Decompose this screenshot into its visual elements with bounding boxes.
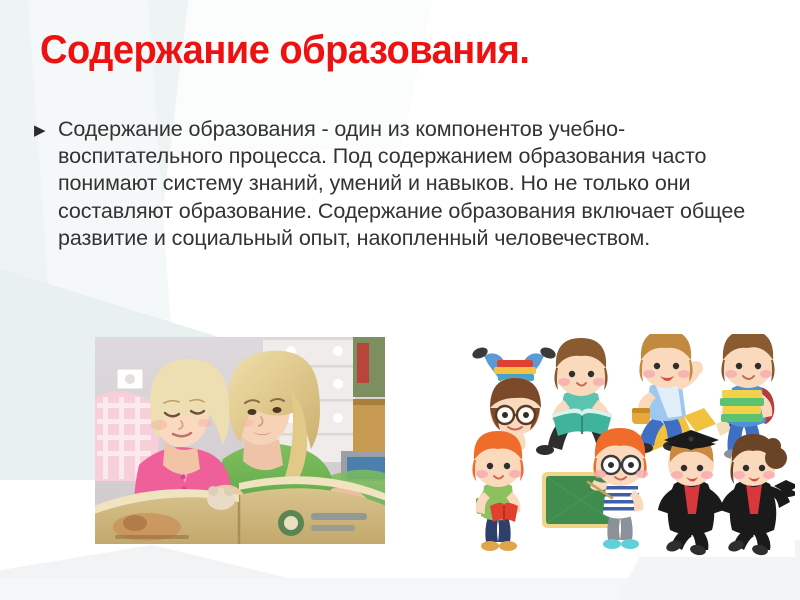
page-title: Содержание образования. — [40, 26, 529, 74]
bullet-paragraph: Содержание образования - один из компоне… — [58, 116, 769, 252]
school-children-clipart — [460, 334, 795, 557]
body-content: ▶ Содержание образования - один из компо… — [34, 116, 769, 252]
bullet-triangle-icon: ▶ — [34, 116, 58, 144]
background-band-bottom — [0, 578, 800, 600]
bullet-item: ▶ Содержание образования - один из компо… — [34, 116, 769, 252]
slide-canvas: Содержание образования. ▶ Содержание обр… — [0, 0, 800, 600]
background-wedge-bottom-left — [0, 545, 400, 600]
mother-and-child-reading-photo — [95, 337, 385, 544]
